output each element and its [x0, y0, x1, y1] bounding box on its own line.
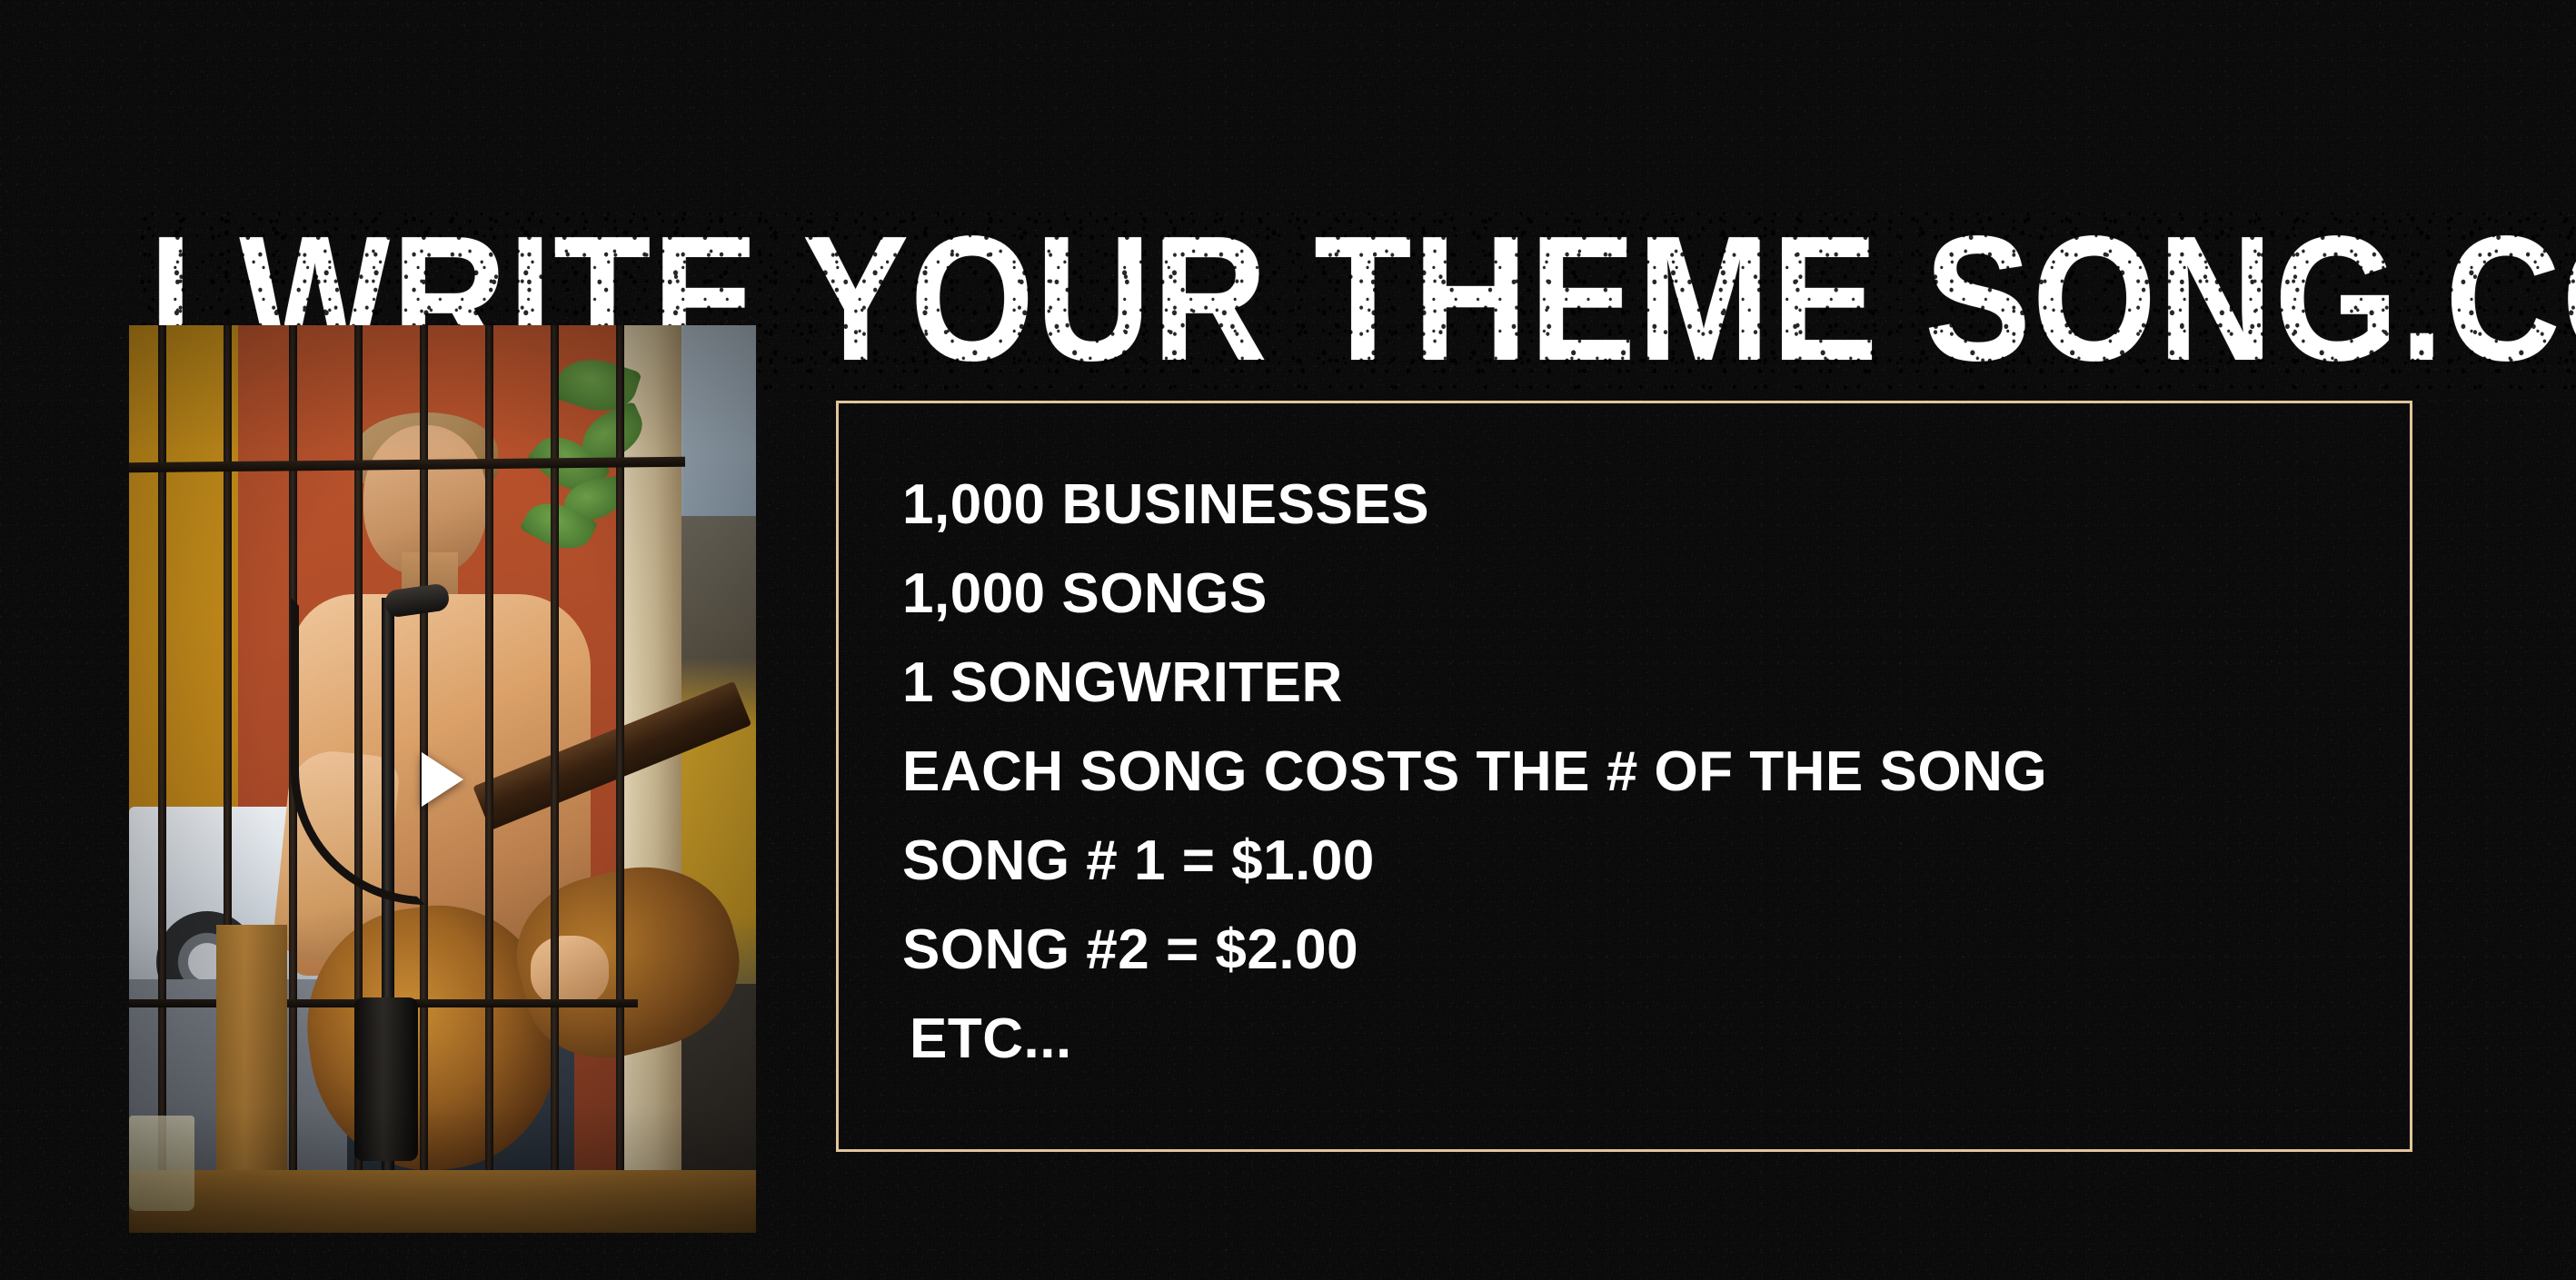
pricing-list: 1,000 BUSINESSES 1,000 SONGS 1 SONGWRITE… [902, 461, 2392, 1084]
list-item: SONG #2 = $2.00 [902, 906, 2392, 995]
list-item: 1,000 BUSINESSES [902, 461, 2392, 550]
play-icon[interactable] [422, 752, 463, 807]
video-player-thumbnail[interactable] [129, 325, 756, 1233]
list-item: 1,000 SONGS [902, 550, 2392, 639]
list-item: SONG # 1 = $1.00 [902, 817, 2392, 906]
list-item: EACH SONG COSTS THE # OF THE SONG [902, 728, 2392, 817]
list-item: ETC... [902, 995, 2392, 1084]
list-item: 1 SONGWRITER [902, 639, 2392, 728]
page-background: I WRITE YOUR THEME SONG.COM [0, 0, 2576, 1280]
pricing-panel: 1,000 BUSINESSES 1,000 SONGS 1 SONGWRITE… [836, 401, 2412, 1152]
